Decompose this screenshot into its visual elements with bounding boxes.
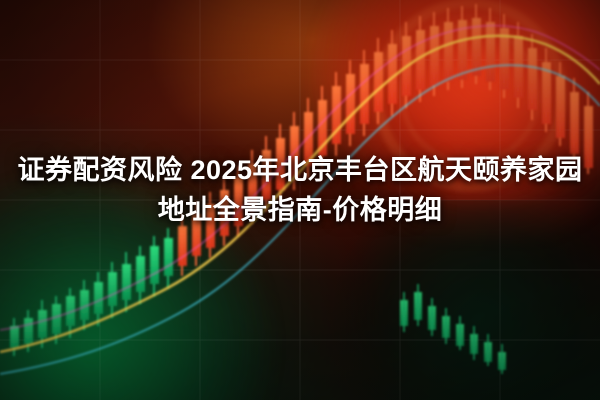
thumbnail-canvas: 证券配资风险 2025年北京丰台区航天颐养家园地址全景指南-价格明细 — [0, 0, 600, 400]
page-title: 证券配资风险 2025年北京丰台区航天颐养家园地址全景指南-价格明细 — [10, 150, 590, 230]
candle-series-bottom-right — [400, 284, 506, 374]
headline-container: 证券配资风险 2025年北京丰台区航天颐养家园地址全景指南-价格明细 — [0, 150, 600, 230]
candle-series-left — [10, 228, 173, 356]
